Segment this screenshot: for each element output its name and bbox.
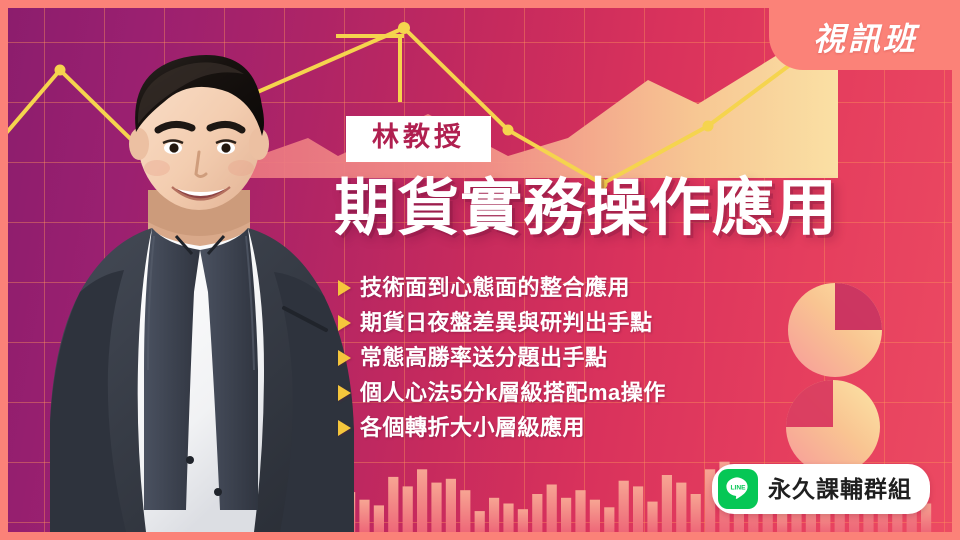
list-item-label: 常態高勝率送分題出手點	[360, 347, 608, 369]
svg-text:LINE: LINE	[730, 485, 746, 492]
list-item-label: 技術面到心態面的整合應用	[360, 277, 630, 299]
triangle-right-icon	[338, 420, 351, 436]
triangle-right-icon	[338, 280, 351, 296]
list-item: 期貨日夜盤差異與研判出手點	[338, 305, 666, 340]
list-item-label: 期貨日夜盤差異與研判出手點	[360, 312, 653, 334]
line-icon: LINE	[718, 469, 758, 509]
list-item: 各個轉折大小層級應用	[338, 410, 666, 445]
banner-canvas: 視訊班 林教授 期貨實務操作應用 技術面到心態面的整合應用 期貨日夜盤差異與研判…	[8, 8, 952, 532]
triangle-right-icon	[338, 350, 351, 366]
instructor-name-label: 林教授	[372, 122, 465, 152]
list-item-label: 個人心法5分k層級搭配ma操作	[360, 382, 666, 404]
list-item-label: 各個轉折大小層級應用	[360, 417, 585, 439]
line-group-label: 永久課輔群組	[768, 478, 912, 501]
list-item: 技術面到心態面的整合應用	[338, 270, 666, 305]
feature-list: 技術面到心態面的整合應用 期貨日夜盤差異與研判出手點 常態高勝率送分題出手點 個…	[338, 270, 666, 445]
course-format-label: 視訊班	[813, 23, 918, 55]
instructor-portrait	[40, 40, 360, 532]
line-group-badge[interactable]: LINE 永久課輔群組	[712, 464, 930, 514]
instructor-name-badge: 林教授	[346, 116, 491, 162]
course-format-badge: 視訊班	[769, 8, 952, 70]
triangle-right-icon	[338, 385, 351, 401]
triangle-right-icon	[338, 315, 351, 331]
promo-banner: 視訊班 林教授 期貨實務操作應用 技術面到心態面的整合應用 期貨日夜盤差異與研判…	[0, 0, 960, 540]
page-title: 期貨實務操作應用	[334, 176, 838, 241]
list-item: 個人心法5分k層級搭配ma操作	[338, 375, 666, 410]
list-item: 常態高勝率送分題出手點	[338, 340, 666, 375]
